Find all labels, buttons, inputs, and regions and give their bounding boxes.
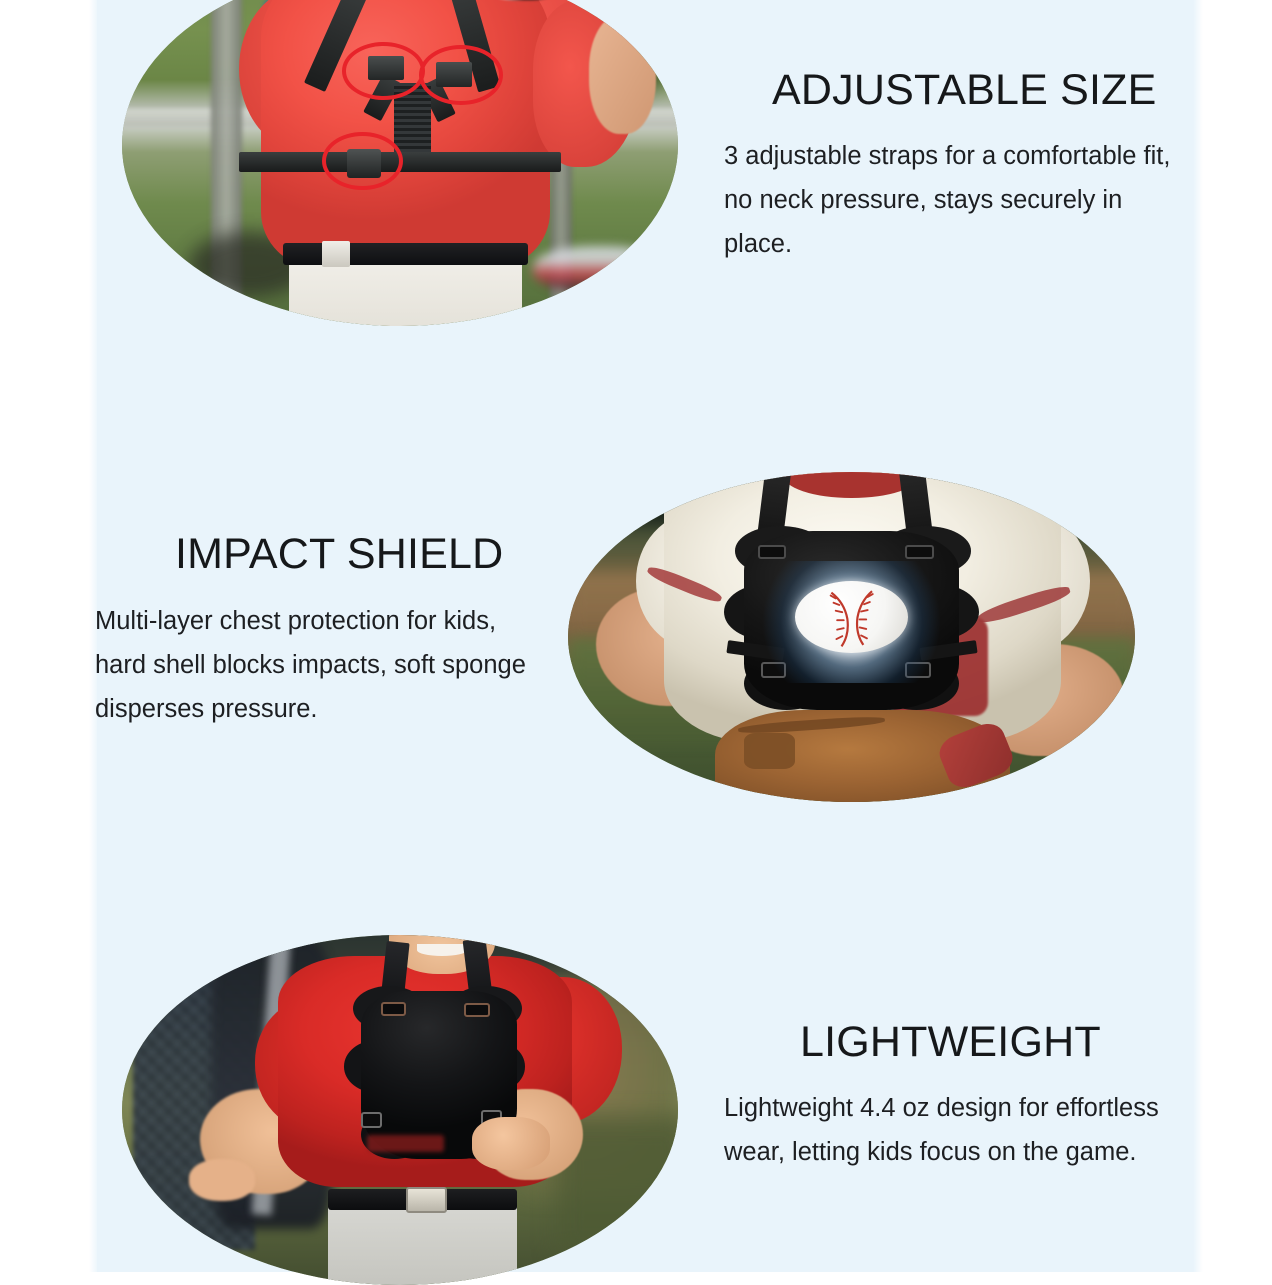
feature-block-impact-shield: IMPACT SHIELD Multi-layer chest protecti…	[0, 460, 1272, 820]
feature-body-lightweight: Lightweight 4.4 oz design for effortless…	[724, 1087, 1194, 1175]
feature-body-adjustable-size: 3 adjustable straps for a comfortable fi…	[724, 135, 1194, 267]
annotation-circle-strap-left	[342, 42, 425, 100]
feature-body-impact-shield: Multi-layer chest protection for kids, h…	[95, 600, 550, 732]
feature-heading-adjustable-size: ADJUSTABLE SIZE	[772, 68, 1157, 113]
baseball-stitching-icon	[795, 581, 908, 654]
annotation-circle-waist-strap	[322, 132, 403, 190]
infographic-canvas: ADJUSTABLE SIZE 3 adjustable straps for …	[0, 0, 1272, 1272]
feature-block-lightweight: LIGHTWEIGHT Lightweight 4.4 oz design fo…	[0, 930, 1272, 1272]
product-photo-impact-shield	[568, 472, 1135, 802]
annotation-circle-strap-right	[419, 45, 502, 105]
product-photo-adjustable-size	[122, 0, 678, 326]
product-photo-lightweight	[122, 935, 678, 1285]
feature-heading-impact-shield: IMPACT SHIELD	[175, 532, 503, 577]
baseball-graphic	[795, 581, 908, 654]
feature-block-adjustable-size: ADJUSTABLE SIZE 3 adjustable straps for …	[0, 0, 1272, 340]
feature-heading-lightweight: LIGHTWEIGHT	[800, 1020, 1101, 1065]
